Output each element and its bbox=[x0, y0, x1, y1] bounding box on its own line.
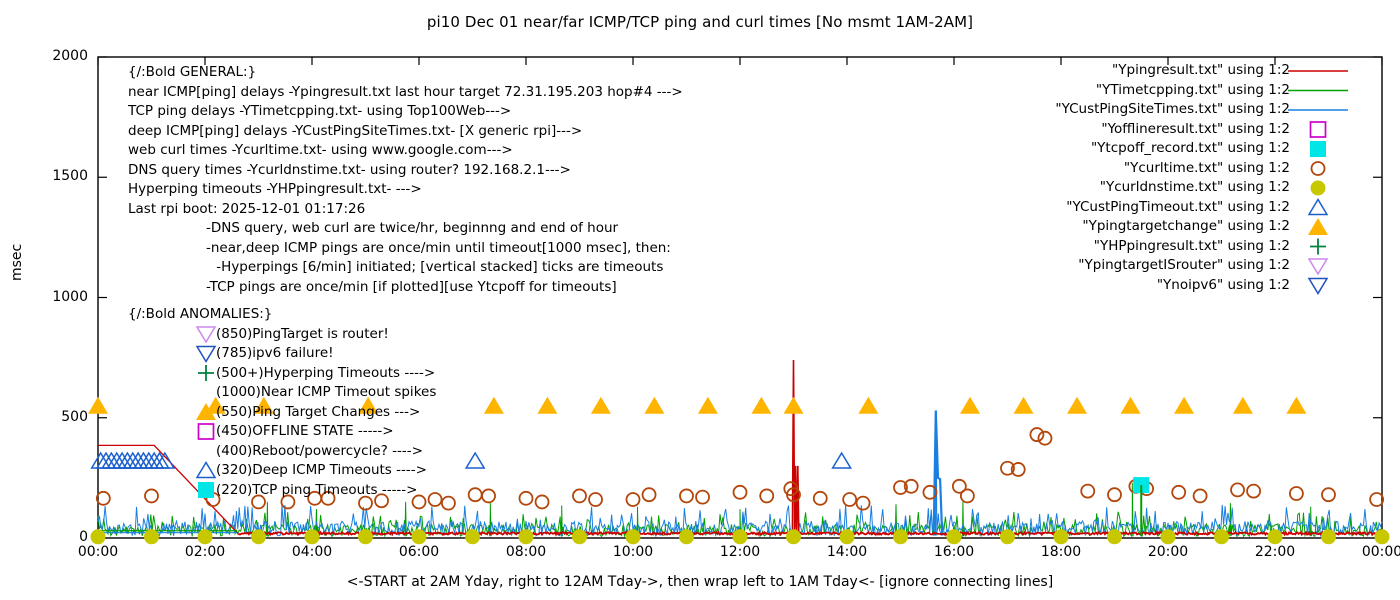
curl-time-marker bbox=[97, 492, 110, 505]
annotation-line: web curl times -Ycurltime.txt- using www… bbox=[128, 141, 513, 161]
curl-time-marker bbox=[680, 489, 693, 502]
annotation-line: (500+)Hyperping Timeouts ----> bbox=[216, 364, 435, 384]
ping-target-change-marker bbox=[1286, 397, 1306, 414]
curl-time-marker bbox=[469, 488, 482, 501]
curl-time-marker bbox=[520, 492, 533, 505]
dns-time-marker bbox=[359, 530, 373, 544]
annotation-line: -DNS query, web curl are twice/hr, begin… bbox=[206, 219, 618, 239]
anomaly-marker bbox=[198, 365, 214, 381]
annotation-line: (320)Deep ICMP Timeouts ----> bbox=[216, 461, 427, 481]
dns-time-marker bbox=[1108, 530, 1122, 544]
legend-label: "Ycurltime.txt" using 1:2 bbox=[900, 160, 1290, 176]
dns-time-marker bbox=[1268, 530, 1282, 544]
curl-time-marker bbox=[643, 488, 656, 501]
curl-time-marker bbox=[1194, 489, 1207, 502]
curl-time-marker bbox=[1370, 493, 1383, 506]
curl-time-marker bbox=[1030, 428, 1043, 441]
curl-time-marker bbox=[145, 489, 158, 502]
legend-marker-7 bbox=[1309, 200, 1327, 215]
annotation-line: (785)ipv6 failure! bbox=[216, 344, 334, 364]
ping-target-change-marker bbox=[537, 397, 557, 414]
dns-time-marker bbox=[787, 530, 801, 544]
legend-marker-5 bbox=[1312, 162, 1325, 175]
curl-time-marker bbox=[961, 489, 974, 502]
curl-time-marker bbox=[1247, 485, 1260, 498]
anomaly-marker bbox=[199, 424, 214, 439]
curl-time-marker bbox=[627, 493, 640, 506]
dns-time-marker bbox=[1215, 530, 1229, 544]
dns-time-marker bbox=[947, 530, 961, 544]
series-near-icmp-line bbox=[238, 532, 1382, 534]
ping-target-change-marker bbox=[1121, 397, 1141, 414]
dns-time-marker bbox=[626, 530, 640, 544]
annotation-line: {/:Bold GENERAL:} bbox=[128, 63, 256, 83]
ping-target-change-marker bbox=[960, 397, 980, 414]
annotation-line: (1000)Near ICMP Timeout spikes bbox=[216, 383, 436, 403]
legend-label: "Yofflineresult.txt" using 1:2 bbox=[900, 121, 1290, 137]
curl-time-marker bbox=[1290, 487, 1303, 500]
dns-time-marker bbox=[412, 530, 426, 544]
legend-marker-8 bbox=[1308, 218, 1328, 235]
legend-label: "YHPpingresult.txt" using 1:2 bbox=[900, 238, 1290, 254]
dns-time-marker bbox=[1375, 530, 1389, 544]
curl-time-marker bbox=[760, 489, 773, 502]
curl-time-marker bbox=[1038, 432, 1051, 445]
near-icmp-spike bbox=[792, 360, 798, 535]
annotation-line: Last rpi boot: 2025-12-01 01:17:26 bbox=[128, 200, 365, 220]
dns-time-marker bbox=[305, 530, 319, 544]
curl-time-marker bbox=[573, 489, 586, 502]
annotation-line: TCP ping delays -YTimetcpping.txt- using… bbox=[128, 102, 511, 122]
annotation-line: -Hyperpings [6/min] initiated; [vertical… bbox=[212, 258, 663, 278]
legend-marker-11 bbox=[1309, 279, 1327, 294]
legend-label: "Ypingresult.txt" using 1:2 bbox=[900, 62, 1290, 78]
legend-label: "Ynoipv6" using 1:2 bbox=[900, 277, 1290, 293]
curl-time-marker bbox=[1322, 488, 1335, 501]
curl-time-marker bbox=[442, 497, 455, 510]
dns-time-marker bbox=[1161, 530, 1175, 544]
dns-time-marker bbox=[145, 530, 159, 544]
dns-time-marker bbox=[91, 530, 105, 544]
legend-label: "YpingtargetISrouter" using 1:2 bbox=[900, 257, 1290, 273]
legend-label: "Ytcpoff_record.txt" using 1:2 bbox=[900, 140, 1290, 156]
dns-time-marker bbox=[894, 530, 908, 544]
curl-time-marker bbox=[1081, 485, 1094, 498]
chart-page: pi10 Dec 01 near/far ICMP/TCP ping and c… bbox=[0, 0, 1400, 600]
dns-time-marker bbox=[1001, 530, 1015, 544]
curl-time-marker bbox=[857, 497, 870, 510]
curl-time-marker bbox=[1172, 486, 1185, 499]
annotation-line: -TCP pings are once/min [if plotted][use… bbox=[206, 278, 617, 298]
anomaly-marker bbox=[197, 463, 215, 478]
legend-marker-9 bbox=[1310, 239, 1326, 255]
curl-time-marker bbox=[1108, 488, 1121, 501]
ping-target-change-marker bbox=[88, 397, 108, 414]
dns-time-marker bbox=[840, 530, 854, 544]
dns-time-marker bbox=[573, 530, 587, 544]
annotation-line: near ICMP[ping] delays -Ypingresult.txt … bbox=[128, 83, 683, 103]
curl-time-marker bbox=[734, 486, 747, 499]
legend-label: "YCustPingSiteTimes.txt" using 1:2 bbox=[900, 101, 1290, 117]
dns-time-marker bbox=[519, 530, 533, 544]
curl-time-marker bbox=[814, 492, 827, 505]
curl-time-marker bbox=[589, 493, 602, 506]
curl-time-marker bbox=[536, 495, 549, 508]
legend-marker-10 bbox=[1309, 259, 1327, 274]
ping-target-change-marker bbox=[1067, 397, 1087, 414]
curl-time-marker bbox=[429, 493, 442, 506]
curl-time-marker bbox=[696, 491, 709, 504]
annotation-line: Hyperping timeouts -YHPpingresult.txt- -… bbox=[128, 180, 422, 200]
dns-time-marker bbox=[733, 530, 747, 544]
ping-target-change-marker bbox=[1233, 397, 1253, 414]
legend-marker-3 bbox=[1311, 122, 1326, 137]
anomaly-marker bbox=[197, 347, 215, 362]
legend-label: "Ycurldnstime.txt" using 1:2 bbox=[900, 179, 1290, 195]
dns-time-marker bbox=[466, 530, 480, 544]
deep-icmp-timeout-marker bbox=[833, 453, 851, 468]
curl-time-marker bbox=[1231, 483, 1244, 496]
anomaly-marker bbox=[198, 482, 214, 498]
curl-time-marker bbox=[843, 493, 856, 506]
annotation-line: DNS query times -Ycurldnstime.txt- using… bbox=[128, 161, 571, 181]
annotation-line: deep ICMP[ping] delays -YCustPingSiteTim… bbox=[128, 122, 582, 142]
ping-target-change-marker bbox=[1014, 397, 1034, 414]
ping-target-change-marker bbox=[644, 397, 664, 414]
dns-time-marker bbox=[252, 530, 266, 544]
curl-time-marker bbox=[482, 489, 495, 502]
annotation-line: (220)TCP ping Timeouts -----> bbox=[216, 481, 418, 501]
dns-time-marker bbox=[1054, 530, 1068, 544]
annotation-line: {/:Bold ANOMALIES:} bbox=[128, 305, 272, 325]
deep-icmp-timeout-marker bbox=[466, 453, 484, 468]
ping-target-change-marker bbox=[1174, 397, 1194, 414]
annotation-line: -near,deep ICMP pings are once/min until… bbox=[206, 239, 671, 259]
legend-marker-4 bbox=[1310, 141, 1326, 157]
ping-target-change-marker bbox=[698, 397, 718, 414]
annotation-line: (550)Ping Target Changes ---> bbox=[216, 403, 420, 423]
dns-time-marker bbox=[198, 530, 212, 544]
ping-target-change-marker bbox=[784, 397, 804, 414]
annotation-line: (450)OFFLINE STATE -----> bbox=[216, 422, 394, 442]
dns-time-marker bbox=[680, 530, 694, 544]
ping-target-change-marker bbox=[858, 397, 878, 414]
ping-target-change-marker bbox=[484, 397, 504, 414]
legend-label: "YCustPingTimeout.txt" using 1:2 bbox=[900, 199, 1290, 215]
anomaly-marker bbox=[197, 327, 215, 342]
dns-time-marker bbox=[1322, 530, 1336, 544]
legend-label: "YTimetcpping.txt" using 1:2 bbox=[900, 82, 1290, 98]
ping-target-change-marker bbox=[591, 397, 611, 414]
annotation-line: (400)Reboot/powercycle? ----> bbox=[216, 442, 423, 462]
legend-label: "Ypingtargetchange" using 1:2 bbox=[900, 218, 1290, 234]
ping-target-change-marker bbox=[751, 397, 771, 414]
legend-marker-6 bbox=[1311, 181, 1325, 195]
annotation-line: (850)PingTarget is router! bbox=[216, 325, 389, 345]
